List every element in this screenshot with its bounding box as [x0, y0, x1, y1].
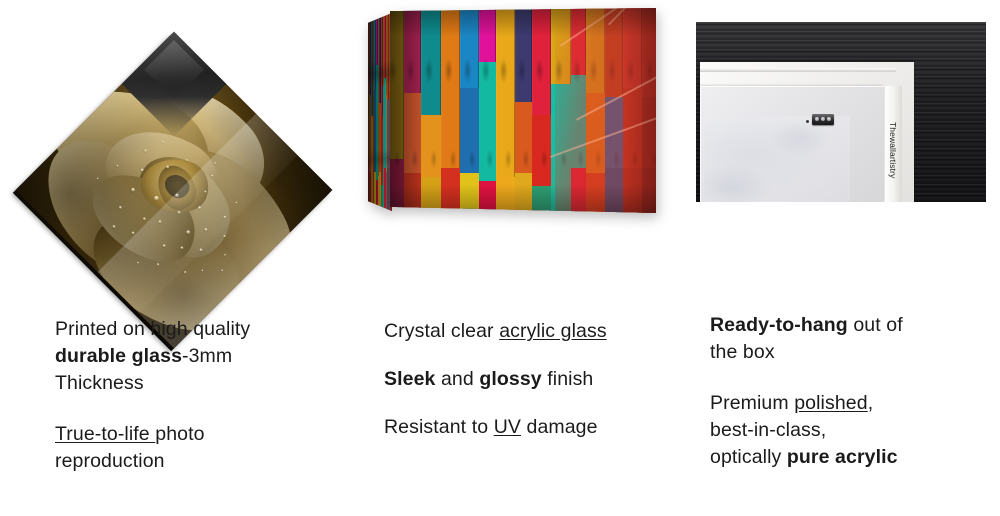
copy-segment: best-in-class,: [710, 419, 826, 441]
copy-block-gap: [55, 397, 345, 421]
rose-glass-panel-image: [0, 0, 360, 300]
screw-icon: [815, 117, 819, 121]
copy-segment: reproduction: [55, 450, 165, 472]
feature-copy-acrylic-canvas: Crystal clear acrylic glassSleek and glo…: [384, 318, 684, 441]
copy-segment: durable glass: [55, 345, 182, 367]
copy-segment: True-to-life: [55, 423, 155, 445]
copy-line: Premium polished,: [710, 390, 995, 417]
copy-segment: Crystal clear: [384, 320, 499, 342]
copy-segment: ,: [868, 392, 874, 414]
copy-line: reproduction: [55, 448, 345, 475]
copy-block-gap: [384, 393, 684, 414]
copy-segment: Premium: [710, 392, 794, 414]
copy-line: best-in-class,: [710, 417, 995, 444]
screw-icon: [827, 117, 831, 121]
copy-segment: damage: [521, 416, 598, 438]
feature-copy-glass-print: Printed on high qualitydurable glass-3mm…: [55, 316, 345, 475]
frame-backing-board: [704, 116, 850, 202]
copy-segment: optically: [710, 446, 787, 468]
copy-cell-acrylic-canvas: Crystal clear acrylic glassSleek and glo…: [360, 300, 690, 516]
copy-cell-glass-print: Printed on high qualitydurable glass-3mm…: [0, 300, 360, 516]
copy-segment: Thickness: [55, 372, 144, 394]
copy-line: Thickness: [55, 370, 345, 397]
copy-segment: finish: [542, 368, 594, 390]
canvas-body: [368, 8, 656, 213]
frame-bevel: [700, 68, 896, 72]
copy-block-gap: [384, 345, 684, 366]
copy-segment: out of: [848, 314, 903, 336]
canvas-wrapped-side-edge: [368, 13, 392, 211]
copy-line: durable glass-3mm: [55, 343, 345, 370]
canvas-front-face: [390, 8, 656, 213]
copy-cell-ready-to-hang: Ready-to-hang out ofthe boxPremium polis…: [690, 300, 1000, 516]
media-cell-ready-to-hang: Thewallartistry: [690, 0, 1000, 300]
frame-photo: Thewallartistry: [696, 22, 986, 202]
copy-segment: and: [435, 368, 479, 390]
copy-line: Crystal clear acrylic glass: [384, 318, 684, 345]
copy-line: optically pure acrylic: [710, 444, 995, 471]
copy-segment: Sleek: [384, 368, 435, 390]
feature-copy-ready-to-hang: Ready-to-hang out ofthe boxPremium polis…: [710, 312, 995, 471]
canvas-side-shading: [368, 13, 392, 211]
copy-segment: acrylic glass: [499, 320, 607, 342]
copy-segment: glossy: [479, 368, 541, 390]
copy-line: Resistant to UV damage: [384, 414, 684, 441]
copy-line: Ready-to-hang out of: [710, 312, 995, 339]
copy-segment: the box: [710, 341, 775, 363]
copy-segment: Ready-to-hang: [710, 314, 848, 336]
frame-back-hanging-hardware-image: Thewallartistry: [690, 0, 1000, 300]
colorful-wood-planks-canvas-image: [360, 0, 690, 300]
copy-line: Printed on high quality: [55, 316, 345, 343]
hanging-bracket-icon: [812, 114, 834, 125]
copy-line: Sleek and glossy finish: [384, 366, 684, 393]
copy-line: the box: [710, 339, 995, 366]
frame-nail-dot: [806, 120, 809, 123]
brand-name-label: Thewallartistry: [888, 122, 898, 178]
copy-segment: Resistant to: [384, 416, 494, 438]
white-frame-back: Thewallartistry: [700, 62, 914, 202]
feature-grid: Thewallartistry Printed on high qualityd…: [0, 0, 1000, 516]
copy-line: True-to-life photo: [55, 421, 345, 448]
copy-block-gap: [710, 366, 995, 390]
canvas-vignette: [390, 8, 656, 213]
copy-segment: UV: [494, 416, 521, 438]
screw-icon: [821, 117, 825, 121]
frame-inner-rail: [700, 86, 884, 202]
copy-segment: pure acrylic: [787, 446, 898, 468]
media-cell-acrylic-canvas: [360, 0, 690, 300]
copy-segment: polished: [794, 392, 867, 414]
brand-edge-rail: Thewallartistry: [884, 86, 902, 202]
copy-segment: photo: [155, 423, 204, 445]
media-cell-glass-print: [0, 0, 360, 300]
copy-segment: -3mm: [182, 345, 232, 367]
copy-segment: Printed on high quality: [55, 318, 250, 340]
